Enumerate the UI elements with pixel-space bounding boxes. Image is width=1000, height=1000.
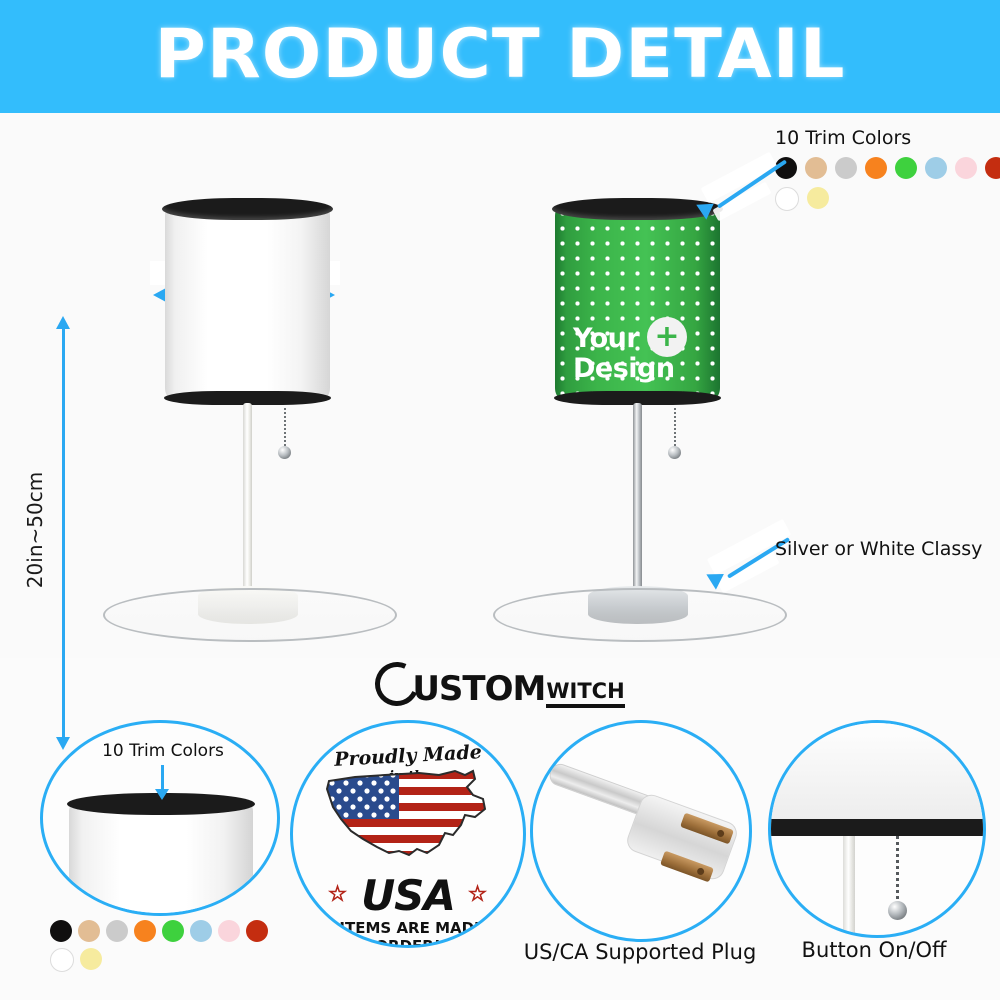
logo-secondary-text: WITCH (546, 679, 624, 708)
trim-colors-feature: 10 Trim Colors (40, 720, 280, 1000)
made-in-usa-circle: Proudly Made in the (290, 720, 526, 948)
feature-trim-arrow-head (155, 789, 169, 800)
usa-map-flag-icon (315, 761, 501, 871)
green-shade-top-trim (552, 198, 723, 220)
usa-badge-bottom-text: ALL ITEMS ARE MADE TO ORDER! (293, 919, 523, 948)
swatch-red[interactable] (985, 157, 1000, 179)
feature-swatch-gray[interactable] (106, 920, 128, 942)
trim-colors-title: 10 Trim Colors (775, 127, 1000, 149)
feature-swatch-white[interactable] (50, 948, 74, 972)
your-design-line1: Your (573, 323, 639, 354)
plug-feature-label: US/CA Supported Plug (495, 940, 785, 964)
feature-swatch-light-blue[interactable] (190, 920, 212, 942)
white-lamp-pull-chain (284, 408, 286, 448)
custom-lamp-pole (633, 403, 642, 598)
white-lamp-shade (165, 198, 330, 403)
switch-feature-label: Button On/Off (758, 938, 990, 962)
feature-shade-body (69, 801, 253, 916)
switch-feature-pole (843, 836, 855, 938)
product-detail-page: PRODUCT DETAIL 7in~18cm 20in~50cm (0, 0, 1000, 1000)
custom-lamp-pull-chain (674, 408, 676, 448)
usa-star-right-icon: ★ (469, 883, 486, 906)
switch-pull-chain[interactable] (896, 836, 899, 904)
custom-lamp-floor-ring (493, 588, 787, 642)
switch-pull-ball[interactable] (888, 901, 907, 920)
swatch-green[interactable] (895, 157, 917, 179)
switch-feature-trim (768, 819, 986, 836)
add-design-plus-icon[interactable]: + (647, 317, 687, 357)
swatch-white[interactable] (775, 187, 799, 211)
swatch-tan[interactable] (805, 157, 827, 179)
feature-swatch-yellow[interactable] (80, 948, 102, 970)
feature-strip: 10 Trim Colors (0, 712, 1000, 1000)
trim-colors-callout: 10 Trim Colors (775, 127, 1000, 211)
feature-swatch-red[interactable] (246, 920, 268, 942)
white-lamp (165, 198, 330, 403)
swatch-light-blue[interactable] (925, 157, 947, 179)
switch-feature-shade (768, 720, 986, 819)
header-banner: PRODUCT DETAIL (0, 0, 1000, 113)
swatch-yellow[interactable] (807, 187, 829, 209)
feature-trim-colors-title: 10 Trim Colors (63, 741, 263, 761)
made-in-usa-feature: Proudly Made in the (290, 720, 530, 970)
your-design-line2: Design (573, 354, 720, 384)
white-lamp-floor-ring (103, 588, 397, 642)
plug-feature-circle (530, 720, 752, 942)
brand-logo: USTOMWITCH (0, 662, 1000, 709)
switch-feature: Button On/Off (768, 720, 1000, 980)
green-shade-body: Your Design + (555, 206, 720, 398)
custom-lamp-pull-ball[interactable] (668, 446, 681, 459)
custom-lamp-shade: Your Design + (555, 198, 720, 403)
feature-swatch-panel (50, 920, 270, 972)
swatch-orange[interactable] (865, 157, 887, 179)
switch-feature-circle (768, 720, 986, 938)
white-lamp-pull-ball[interactable] (278, 446, 291, 459)
logo-primary-text: USTOM (412, 669, 545, 709)
page-title: PRODUCT DETAIL (0, 18, 1000, 92)
plug-feature: US/CA Supported Plug (530, 720, 790, 980)
height-dimension-label: 20in~50cm (23, 440, 47, 620)
white-lamp-pole (243, 403, 252, 598)
white-shade-body (165, 206, 330, 398)
product-stage: 7in~18cm 20in~50cm Your De (0, 113, 1000, 658)
usa-badge-word: USA (293, 871, 523, 920)
feature-swatch-pink[interactable] (218, 920, 240, 942)
trim-colors-feature-circle: 10 Trim Colors (40, 720, 280, 916)
base-finish-label: Silver or White Classy (775, 538, 982, 560)
swatch-gray[interactable] (835, 157, 857, 179)
swatch-pink[interactable] (955, 157, 977, 179)
custom-lamp: Your Design + (555, 198, 720, 403)
feature-swatch-tan[interactable] (78, 920, 100, 942)
trim-colors-swatch-row (775, 157, 1000, 211)
white-shade-top-trim (162, 198, 333, 220)
feature-swatch-orange[interactable] (134, 920, 156, 942)
feature-swatch-black[interactable] (50, 920, 72, 942)
feature-swatch-green[interactable] (162, 920, 184, 942)
